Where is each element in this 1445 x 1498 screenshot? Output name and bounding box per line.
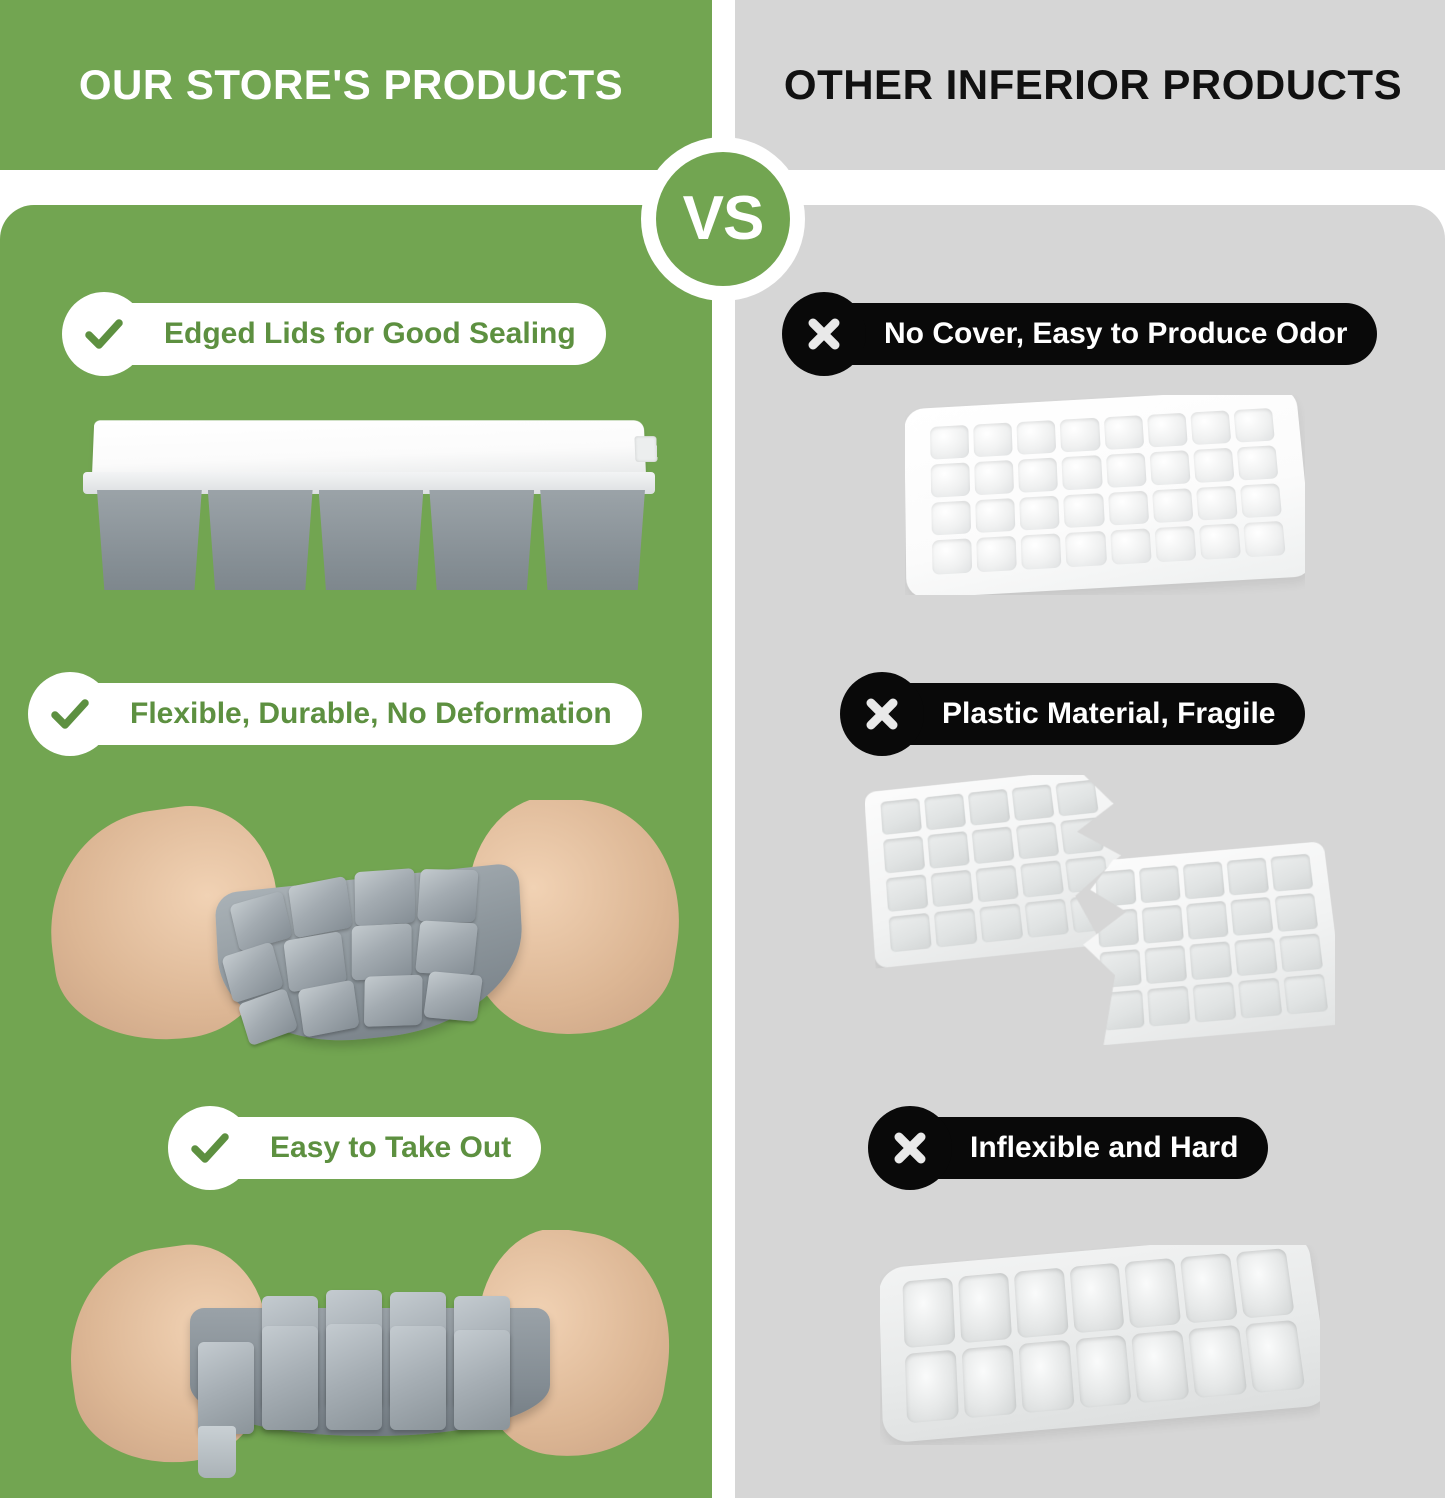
vs-badge: VS [641,137,805,301]
feature-pill-bad-1: No Cover, Easy to Produce Odor [782,292,1377,376]
image-hands-twisting-tray [50,800,680,1060]
feature-label-good-2: Flexible, Durable, No Deformation [130,699,612,729]
image-broken-plastic-tray [865,775,1335,1045]
hard-tray [880,1245,1320,1444]
image-hands-pushing-cubes-out [70,1230,670,1480]
cross-icon [868,1106,952,1190]
feature-bar-good-3: Easy to Take Out [206,1117,541,1179]
broken-piece-right [1079,841,1335,1045]
feature-pill-bad-2: Plastic Material, Fragile [840,672,1305,756]
header-title-right: OTHER INFERIOR PRODUCTS [735,0,1445,170]
tray-pull-tab [198,1426,236,1478]
hard-tray-cavities [902,1248,1305,1423]
vs-label: VS [683,183,764,254]
image-hard-plastic-ice-tray [880,1245,1320,1445]
feature-label-bad-1: No Cover, Easy to Produce Odor [884,319,1347,349]
white-tray [905,395,1305,595]
feature-pill-bad-3: Inflexible and Hard [868,1106,1268,1190]
check-icon [168,1106,252,1190]
image-gray-tray-with-lid [75,420,665,600]
feature-pill-good-1: Edged Lids for Good Sealing [62,292,606,376]
feature-pill-good-3: Easy to Take Out [168,1106,541,1190]
feature-bar-bad-1: No Cover, Easy to Produce Odor [820,303,1377,365]
feature-bar-bad-3: Inflexible and Hard [906,1117,1268,1179]
feature-pill-good-2: Flexible, Durable, No Deformation [28,672,642,756]
feature-label-bad-3: Inflexible and Hard [970,1133,1238,1163]
feature-bar-good-1: Edged Lids for Good Sealing [100,303,606,365]
comparison-infographic: OUR STORE'S PRODUCTS OTHER INFERIOR PROD… [0,0,1445,1498]
check-icon [62,292,146,376]
white-tray-cavities [930,408,1286,575]
feature-bar-bad-2: Plastic Material, Fragile [878,683,1305,745]
header-title-left: OUR STORE'S PRODUCTS [0,0,712,170]
vs-circle: VS [656,152,790,286]
feature-bar-good-2: Flexible, Durable, No Deformation [66,683,642,745]
image-white-tray-no-lid [905,395,1305,595]
feature-label-bad-2: Plastic Material, Fragile [942,699,1275,729]
cross-icon [840,672,924,756]
feature-label-good-1: Edged Lids for Good Sealing [164,319,576,349]
tray-compartments [97,490,645,590]
feature-label-good-3: Easy to Take Out [270,1133,511,1163]
cross-icon [782,292,866,376]
check-icon [28,672,112,756]
flexible-tray [214,862,526,1054]
